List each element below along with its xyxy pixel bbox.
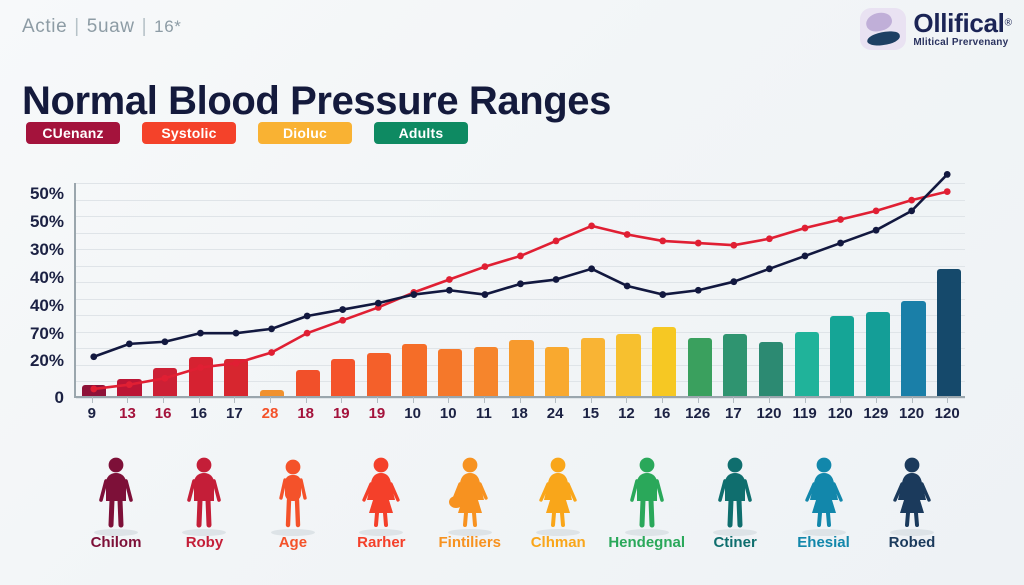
x-axis-tick-label: 119 (793, 405, 817, 422)
line-data-point (304, 313, 311, 320)
x-axis-tick-label: 11 (476, 405, 492, 422)
line-data-point (553, 276, 560, 283)
person-icon (615, 456, 679, 536)
line-data-point (908, 197, 915, 204)
line-data-point (446, 287, 453, 294)
y-axis-tick-label: 50% (30, 212, 64, 232)
x-axis-tick (769, 397, 770, 403)
eyebrow-part-2: 5uaw (87, 16, 135, 37)
brand-logo: Ollifical® Mlitical Prervenany (860, 8, 1012, 50)
x-axis-tick-label: 126 (685, 405, 710, 422)
logo-text-block: Ollifical® Mlitical Prervenany (913, 10, 1012, 48)
person-icon (526, 456, 590, 536)
legend-chip[interactable]: Dioluc (258, 122, 352, 144)
person-label: Ctiner (713, 534, 756, 551)
person-icon (438, 456, 502, 536)
line-data-point (517, 280, 524, 287)
line-data-point (873, 227, 880, 234)
person-figure-icon (446, 456, 494, 528)
person-icon (880, 456, 944, 536)
line-data-point (233, 360, 240, 367)
people-label-row: ChilomRobyAgeRarherFintiliersClhmanHende… (0, 534, 1024, 562)
person-label: Hendegnal (608, 534, 685, 551)
line-data-point (588, 223, 595, 230)
person-label: Roby (186, 534, 224, 551)
line-data-point (233, 330, 240, 337)
x-axis-tick (413, 397, 414, 403)
x-axis-tick (92, 397, 93, 403)
logo-tagline: Mlitical Prervenany (913, 38, 1012, 48)
eyebrow-separator-1: | (67, 16, 87, 37)
y-axis-tick-label: 40% (30, 296, 64, 316)
x-axis-tick-label: 18 (511, 405, 528, 422)
person-label: Ehesial (797, 534, 850, 551)
line-path (94, 174, 947, 356)
x-axis-tick-label: 24 (547, 405, 564, 422)
line-data-point (268, 349, 275, 356)
person-figure-icon (534, 456, 582, 528)
x-axis-tick (448, 397, 449, 403)
person-icon (84, 456, 148, 536)
line-data-point (90, 386, 97, 393)
x-axis-tick-label: 120 (756, 405, 781, 422)
x-axis-tick (234, 397, 235, 403)
legend-chip[interactable]: CUenanz (26, 122, 120, 144)
person-figure-icon (92, 456, 140, 528)
line-data-point (375, 300, 382, 307)
logo-swoosh-lower-icon (867, 30, 901, 47)
person-label: Chilom (91, 534, 142, 551)
x-axis-tick (163, 397, 164, 403)
line-data-point (837, 240, 844, 247)
line-data-point (126, 340, 133, 347)
x-axis-tick (127, 397, 128, 403)
x-axis-tick (270, 397, 271, 403)
line-data-point (802, 253, 809, 260)
eyebrow-separator-2: | (135, 16, 155, 37)
line-data-point (766, 265, 773, 272)
x-axis-tick-label: 17 (226, 405, 243, 422)
x-axis-tick (306, 397, 307, 403)
person-figure-icon (800, 456, 848, 528)
y-axis-tick-label: 50% (30, 184, 64, 204)
logo-wordmark: Ollifical (913, 10, 1004, 36)
x-axis-tick (341, 397, 342, 403)
x-axis-tick (199, 397, 200, 403)
x-axis-tick (484, 397, 485, 403)
x-axis-tick-label: 16 (190, 405, 207, 422)
x-axis-tick (733, 397, 734, 403)
eyebrow-text: Actie|5uaw|16* (22, 16, 182, 38)
line-data-point (482, 291, 489, 298)
y-axis-tick-label: 70% (30, 324, 64, 344)
line-data-point (802, 225, 809, 232)
person-figure-icon (357, 456, 405, 528)
x-axis-tick-label: 129 (863, 405, 888, 422)
y-axis-tick-label: 0 (55, 388, 64, 408)
line-data-point (695, 240, 702, 247)
line-data-point (339, 317, 346, 324)
line-data-point (410, 291, 417, 298)
logo-registered-mark: ® (1005, 18, 1012, 29)
logo-mark-icon (860, 8, 906, 50)
gridline (76, 398, 965, 399)
line-data-point (197, 364, 204, 371)
person-label: Fintiliers (439, 534, 502, 551)
y-axis-tick-label: 30% (30, 240, 64, 260)
line-data-point (268, 325, 275, 332)
line-data-point (162, 338, 169, 345)
person-label: Age (279, 534, 307, 551)
x-axis-tick (698, 397, 699, 403)
x-axis-tick (626, 397, 627, 403)
line-data-point (659, 238, 666, 245)
x-axis-tick-label: 9 (88, 405, 96, 422)
eyebrow-part-1: Actie (22, 16, 67, 37)
chart-area: 50%50%30%40%40%70%20%0 91316161728181919… (0, 160, 1024, 410)
x-axis-tick (555, 397, 556, 403)
line-series (76, 183, 965, 398)
line-data-point (659, 291, 666, 298)
line-data-point (624, 231, 631, 238)
x-axis-tick-label: 13 (119, 405, 136, 422)
line-data-point (90, 353, 97, 360)
y-axis-labels: 50%50%30%40%40%70%20%0 (0, 160, 64, 410)
x-axis-tick-label: 19 (369, 405, 386, 422)
x-axis-tick-label: 19 (333, 405, 350, 422)
person-icon (703, 456, 767, 536)
line-data-point (730, 278, 737, 285)
line-data-point (304, 330, 311, 337)
person-figure-icon (711, 456, 759, 528)
line-data-point (837, 216, 844, 223)
line-data-point (695, 287, 702, 294)
x-axis-tick-label: 10 (404, 405, 421, 422)
x-axis-tick (805, 397, 806, 403)
legend-chip[interactable]: Systolic (142, 122, 236, 144)
x-axis-labels: 9131616172818191910101118241512161261712… (74, 405, 965, 431)
line-data-point (126, 381, 133, 388)
line-data-point (197, 330, 204, 337)
line-data-point (908, 207, 915, 214)
line-data-point (446, 276, 453, 283)
line-data-point (517, 253, 524, 260)
x-axis-tick (840, 397, 841, 403)
chart-legend: CUenanzSystolicDiolucAdults (26, 122, 468, 144)
line-data-point (482, 263, 489, 270)
x-axis-tick (520, 397, 521, 403)
plot-area (74, 183, 965, 398)
x-axis-tick-label: 10 (440, 405, 457, 422)
person-figure-icon (623, 456, 671, 528)
x-axis-tick-label: 120 (935, 405, 960, 422)
line-data-point (624, 283, 631, 290)
person-icon (792, 456, 856, 536)
infographic-poster: Actie|5uaw|16* Normal Blood Pressure Ran… (0, 0, 1024, 585)
eyebrow-part-3: 16* (154, 17, 181, 36)
x-axis-tick-label: 16 (155, 405, 172, 422)
person-label: Clhman (531, 534, 586, 551)
x-axis-tick-label: 17 (725, 405, 742, 422)
line-data-point (162, 375, 169, 382)
line-data-point (588, 265, 595, 272)
x-axis-tick-label: 12 (618, 405, 635, 422)
person-icon (261, 456, 325, 536)
person-label: Robed (889, 534, 936, 551)
person-figure-icon (180, 456, 228, 528)
x-axis-tick-label: 16 (654, 405, 671, 422)
x-axis-tick (912, 397, 913, 403)
x-axis-tick (947, 397, 948, 403)
line-data-point (873, 207, 880, 214)
x-axis-tick (662, 397, 663, 403)
person-icon (172, 456, 236, 536)
page-title: Normal Blood Pressure Ranges (22, 79, 611, 124)
x-axis-tick (591, 397, 592, 403)
person-figure-icon (888, 456, 936, 528)
line-data-point (766, 235, 773, 242)
y-axis-tick-label: 40% (30, 268, 64, 288)
person-label: Rarher (357, 534, 405, 551)
person-figure-icon (269, 456, 317, 528)
x-axis-tick-label: 28 (262, 405, 279, 422)
x-axis-tick (876, 397, 877, 403)
line-data-point (730, 242, 737, 249)
legend-chip[interactable]: Adults (374, 122, 468, 144)
y-axis-tick-label: 20% (30, 351, 64, 371)
x-axis-tick-label: 18 (297, 405, 314, 422)
line-path (94, 192, 947, 389)
x-axis-tick (377, 397, 378, 403)
line-data-point (944, 188, 951, 195)
line-data-point (339, 306, 346, 313)
x-axis-tick-label: 120 (899, 405, 924, 422)
person-icon (349, 456, 413, 536)
x-axis-tick-label: 15 (582, 405, 599, 422)
line-data-point (553, 238, 560, 245)
x-axis-tick-label: 120 (828, 405, 853, 422)
line-data-point (944, 171, 951, 178)
